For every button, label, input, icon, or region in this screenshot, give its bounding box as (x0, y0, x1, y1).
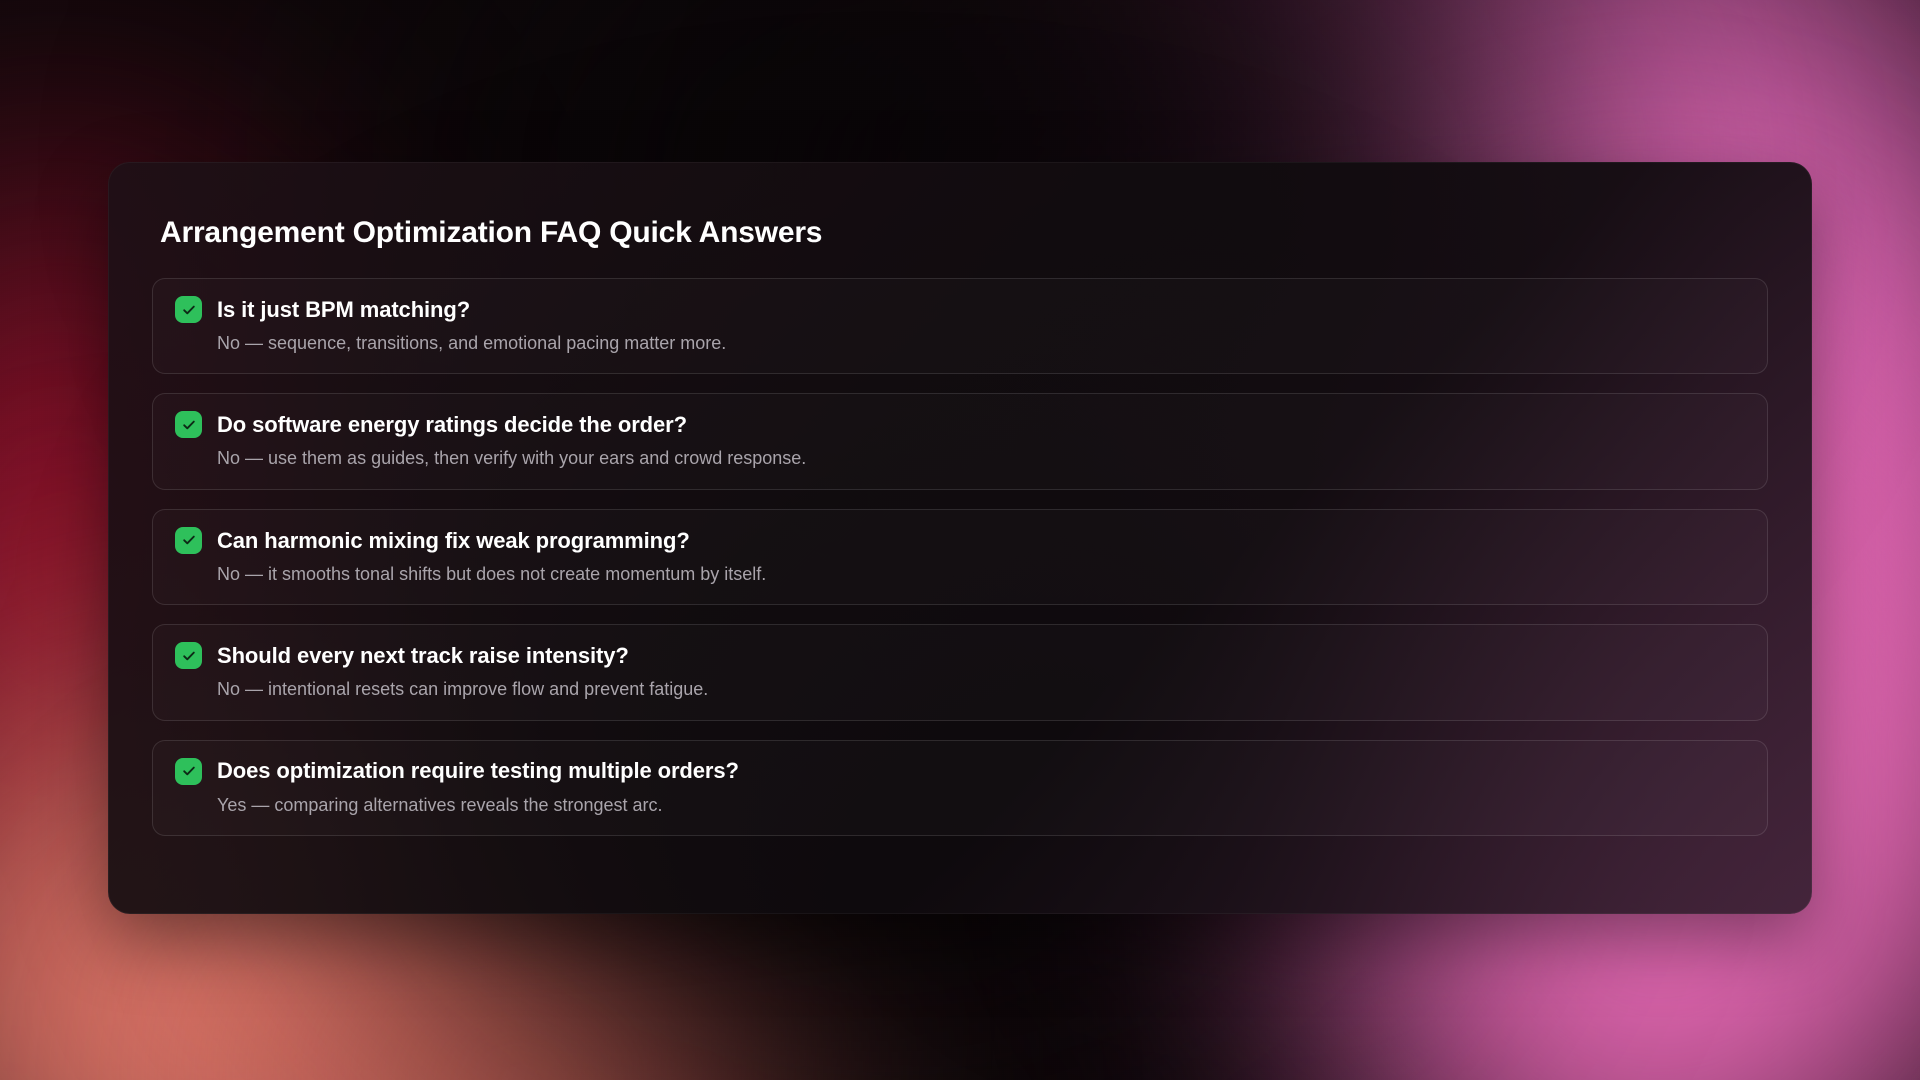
faq-item-header: Should every next track raise intensity? (175, 642, 1745, 669)
check-icon[interactable] (175, 642, 202, 669)
faq-answer: No — intentional resets can improve flow… (217, 678, 1745, 701)
faq-answer: No — use them as guides, then verify wit… (217, 447, 1745, 470)
check-icon[interactable] (175, 527, 202, 554)
check-icon[interactable] (175, 296, 202, 323)
faq-answer: No — sequence, transitions, and emotiona… (217, 332, 1745, 355)
faq-answer: Yes — comparing alternatives reveals the… (217, 794, 1745, 817)
faq-question: Do software energy ratings decide the or… (217, 412, 687, 437)
faq-answer: No — it smooths tonal shifts but does no… (217, 563, 1745, 586)
faq-question: Is it just BPM matching? (217, 297, 470, 322)
check-icon[interactable] (175, 758, 202, 785)
faq-list: Is it just BPM matching?No — sequence, t… (152, 278, 1768, 836)
faq-question: Should every next track raise intensity? (217, 643, 629, 668)
faq-item[interactable]: Does optimization require testing multip… (152, 740, 1768, 836)
faq-item-header: Is it just BPM matching? (175, 296, 1745, 323)
page-title: Arrangement Optimization FAQ Quick Answe… (160, 216, 1768, 250)
faq-item-header: Can harmonic mixing fix weak programming… (175, 527, 1745, 554)
faq-question: Does optimization require testing multip… (217, 758, 739, 783)
faq-card: Arrangement Optimization FAQ Quick Answe… (108, 162, 1812, 914)
faq-item[interactable]: Is it just BPM matching?No — sequence, t… (152, 278, 1768, 374)
faq-item[interactable]: Do software energy ratings decide the or… (152, 393, 1768, 489)
faq-question: Can harmonic mixing fix weak programming… (217, 528, 690, 553)
faq-item-header: Do software energy ratings decide the or… (175, 411, 1745, 438)
faq-item[interactable]: Can harmonic mixing fix weak programming… (152, 509, 1768, 605)
check-icon[interactable] (175, 411, 202, 438)
faq-item[interactable]: Should every next track raise intensity?… (152, 624, 1768, 720)
faq-item-header: Does optimization require testing multip… (175, 758, 1745, 785)
